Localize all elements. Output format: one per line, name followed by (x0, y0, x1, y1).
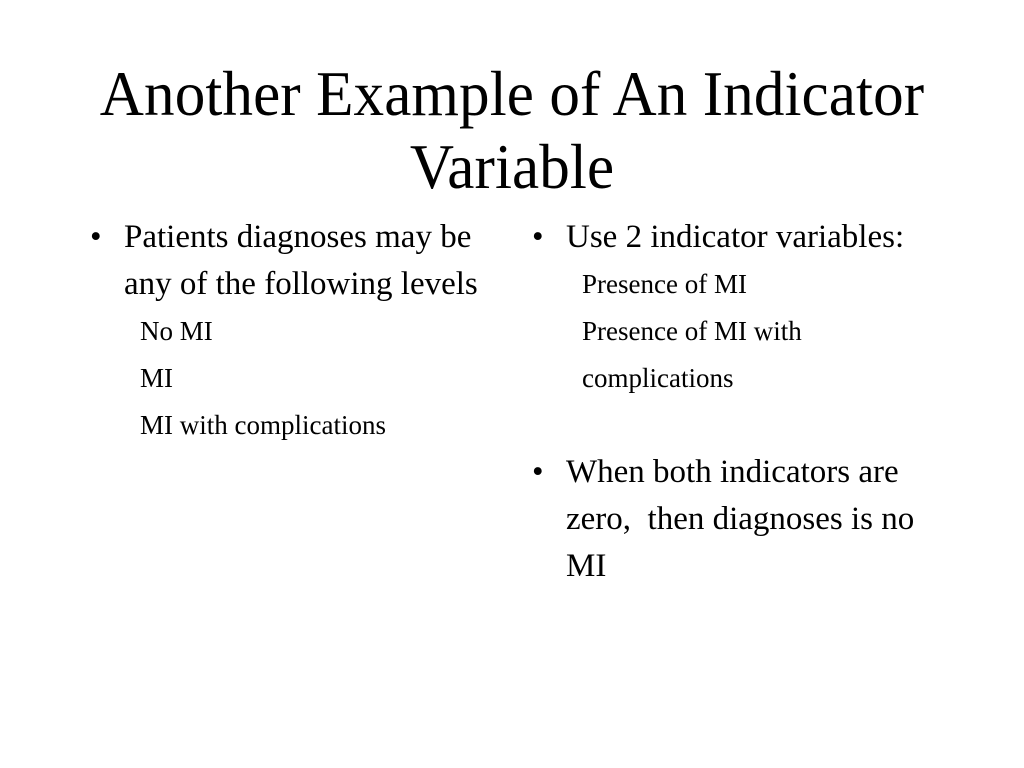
bullet-text: When both indicators are zero, then diag… (566, 449, 940, 590)
content-column-left: • Patients diagnoses may be any of the f… (78, 214, 488, 449)
sub-bullet-text: No MI (140, 308, 488, 355)
slide-canvas: Another Example of An Indicator Variable… (0, 0, 1024, 768)
content-column-right: • Use 2 indicator variables: Presence of… (520, 214, 940, 590)
sub-bullet-item: Presence of MI with complications (520, 308, 940, 402)
bullet-item: • Use 2 indicator variables: (520, 214, 940, 261)
sub-bullet-text: MI (140, 355, 488, 402)
sub-bullet-text: Presence of MI with complications (582, 308, 940, 402)
page-title: Another Example of An Indicator Variable (76, 58, 949, 204)
sub-bullet-text: MI with complications (140, 402, 488, 449)
sub-bullet-item: MI with complications (78, 402, 488, 449)
bullet-item: • When both indicators are zero, then di… (520, 449, 940, 590)
bullet-marker-icon: • (90, 214, 106, 261)
sub-bullet-item: MI (78, 355, 488, 402)
sub-bullet-item: No MI (78, 308, 488, 355)
bullet-text: Use 2 indicator variables: (566, 214, 940, 261)
slide-body: • Patients diagnoses may be any of the f… (0, 214, 1024, 734)
bullet-marker-icon: • (532, 449, 548, 496)
bullet-marker-icon: • (532, 214, 548, 261)
sub-bullet-text: Presence of MI (582, 261, 940, 308)
bullet-item: • Patients diagnoses may be any of the f… (78, 214, 488, 308)
sub-bullet-item: Presence of MI (520, 261, 940, 308)
bullet-text: Patients diagnoses may be any of the fol… (124, 214, 488, 308)
block-spacer (520, 402, 940, 449)
